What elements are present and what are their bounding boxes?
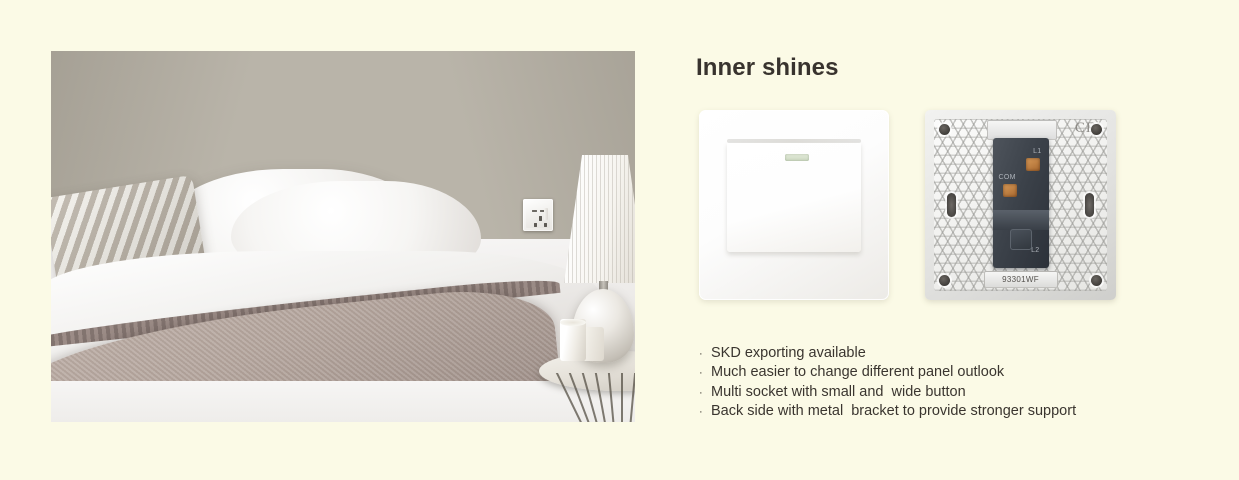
list-item: · Much easier to change different panel … — [699, 363, 1159, 382]
list-item-label: Back side with metal bracket to provide … — [711, 402, 1076, 420]
page-title: Inner shines — [696, 54, 839, 82]
bullet-dot-icon: · — [699, 345, 711, 363]
bullet-dot-icon: · — [699, 403, 711, 421]
bullet-dot-icon: · — [699, 364, 711, 382]
model-number-label: 93301WF — [984, 271, 1058, 288]
nightstand-wire — [621, 373, 623, 422]
screw-hole — [939, 124, 950, 135]
nightstand-wire — [623, 373, 635, 422]
nightstand-wire-frame — [551, 373, 635, 422]
socket-rocker — [544, 208, 548, 220]
nightstand-wire — [607, 373, 620, 422]
list-item-label: SKD exporting available — [711, 344, 866, 362]
switch-rocker — [727, 142, 861, 252]
socket-pin — [539, 216, 542, 221]
mounting-slot — [947, 193, 956, 217]
terminal-label-com: COM — [999, 174, 1016, 181]
screw-hole — [1091, 275, 1102, 286]
product-image-switch-front — [699, 110, 889, 300]
bedroom-hero-photo — [51, 51, 635, 422]
mounting-slot — [1085, 193, 1094, 217]
bed-sheet-lower — [51, 381, 635, 422]
terminal-label-l2: L2 — [1031, 247, 1039, 254]
terminal-band — [993, 210, 1049, 230]
candle — [560, 319, 586, 361]
screw-hole — [939, 275, 950, 286]
terminal-screw — [1003, 184, 1017, 197]
wall-socket-with-usb — [523, 199, 553, 231]
socket-pin — [534, 223, 537, 227]
indicator-led-icon — [785, 154, 809, 161]
terminal-button — [1010, 229, 1032, 250]
list-item: · Multi socket with small and wide butto… — [699, 383, 1159, 402]
list-item: · SKD exporting available — [699, 344, 1159, 363]
list-item-label: Much easier to change different panel ou… — [711, 363, 1004, 381]
socket-pin — [544, 223, 547, 227]
product-image-switch-back: CE COM L1 L2 93301WF — [925, 110, 1116, 300]
content-column: Inner shines CE COM L1 L2 93301WF · — [696, 0, 1216, 480]
list-item-label: Multi socket with small and wide button — [711, 383, 966, 401]
terminal-label-l1: L1 — [1033, 148, 1041, 155]
screw-hole — [1091, 124, 1102, 135]
feature-list: · SKD exporting available · Much easier … — [699, 344, 1159, 422]
usb-port-icon — [532, 210, 537, 212]
top-label-plate — [987, 120, 1057, 140]
terminal-screw — [1026, 158, 1040, 171]
terminal-block: COM L1 L2 — [993, 138, 1049, 268]
bullet-dot-icon: · — [699, 384, 711, 402]
socket-faceplate — [526, 202, 550, 228]
nightstand-wire — [593, 373, 618, 422]
list-item: · Back side with metal bracket to provid… — [699, 402, 1159, 421]
